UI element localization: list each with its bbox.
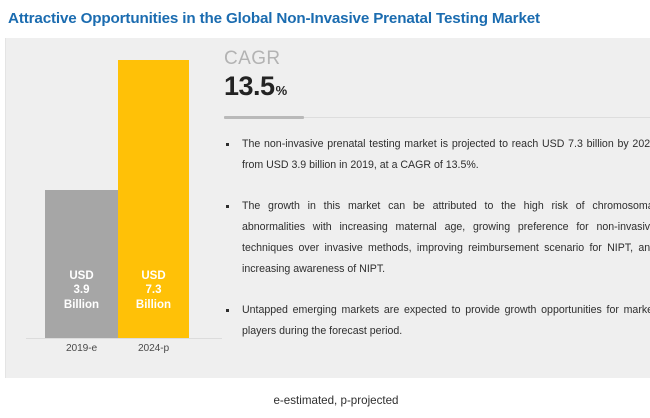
bar-2019-e[interactable]: USD 3.9 Billion	[45, 190, 118, 338]
bullet-dot-icon	[226, 205, 229, 208]
x-tick-label-2019: 2019-e	[45, 343, 118, 354]
divider-line	[304, 117, 650, 118]
chart-plot-area: USD 3.9 Billion USD 7.3 Billion	[21, 44, 221, 338]
chart-x-axis-ticks: 2019-e 2024-p	[21, 343, 221, 361]
bullet-dot-icon	[226, 143, 229, 146]
bullet-list: The non-invasive prenatal testing market…	[224, 134, 650, 342]
bar-2024-p[interactable]: USD 7.3 Billion	[118, 60, 189, 338]
x-tick-label-2024: 2024-p	[118, 343, 189, 354]
divider-accent-segment	[224, 116, 304, 119]
bar-value-label-2019: USD 3.9 Billion	[64, 269, 99, 313]
cagr-unit: %	[276, 83, 288, 98]
bar-chart: USD 3.9 Billion USD 7.3 Billion 2019-e 2…	[21, 44, 221, 364]
cagr-value-row: 13.5 %	[224, 71, 287, 101]
cagr-value: 13.5	[224, 71, 275, 101]
bar-label-line-2: 3.9	[64, 283, 99, 298]
bar-label-line-3: Billion	[64, 298, 99, 313]
chart-x-axis-line	[26, 338, 222, 339]
list-item: Untapped emerging markets are expected t…	[224, 300, 650, 342]
section-divider	[224, 116, 650, 119]
bar-label-line-3: Billion	[136, 298, 171, 313]
infographic-panel: USD 3.9 Billion USD 7.3 Billion 2019-e 2…	[5, 38, 650, 378]
bar-label-line-2: 7.3	[136, 283, 171, 298]
panel-content: CAGR 13.5 % The non-invasive prenatal te…	[216, 38, 650, 378]
bar-label-line-1: USD	[64, 269, 99, 284]
bullet-text: The non-invasive prenatal testing market…	[242, 138, 650, 171]
footer-note: e-estimated, p-projected	[251, 394, 398, 407]
cagr-label: CAGR	[224, 48, 287, 70]
bar-value-label-2024: USD 7.3 Billion	[136, 269, 171, 313]
page-title-bar: Attractive Opportunities in the Global N…	[0, 0, 650, 36]
cagr-block: CAGR 13.5 %	[224, 48, 287, 101]
page-title: Attractive Opportunities in the Global N…	[0, 10, 540, 27]
list-item: The non-invasive prenatal testing market…	[224, 134, 650, 176]
bullet-text: The growth in this market can be attribu…	[242, 200, 650, 275]
bullet-dot-icon	[226, 309, 229, 312]
list-item: The growth in this market can be attribu…	[224, 196, 650, 280]
footer-bar: e-estimated, p-projected	[0, 382, 650, 418]
bar-label-line-1: USD	[136, 269, 171, 284]
bullet-text: Untapped emerging markets are expected t…	[242, 304, 650, 337]
